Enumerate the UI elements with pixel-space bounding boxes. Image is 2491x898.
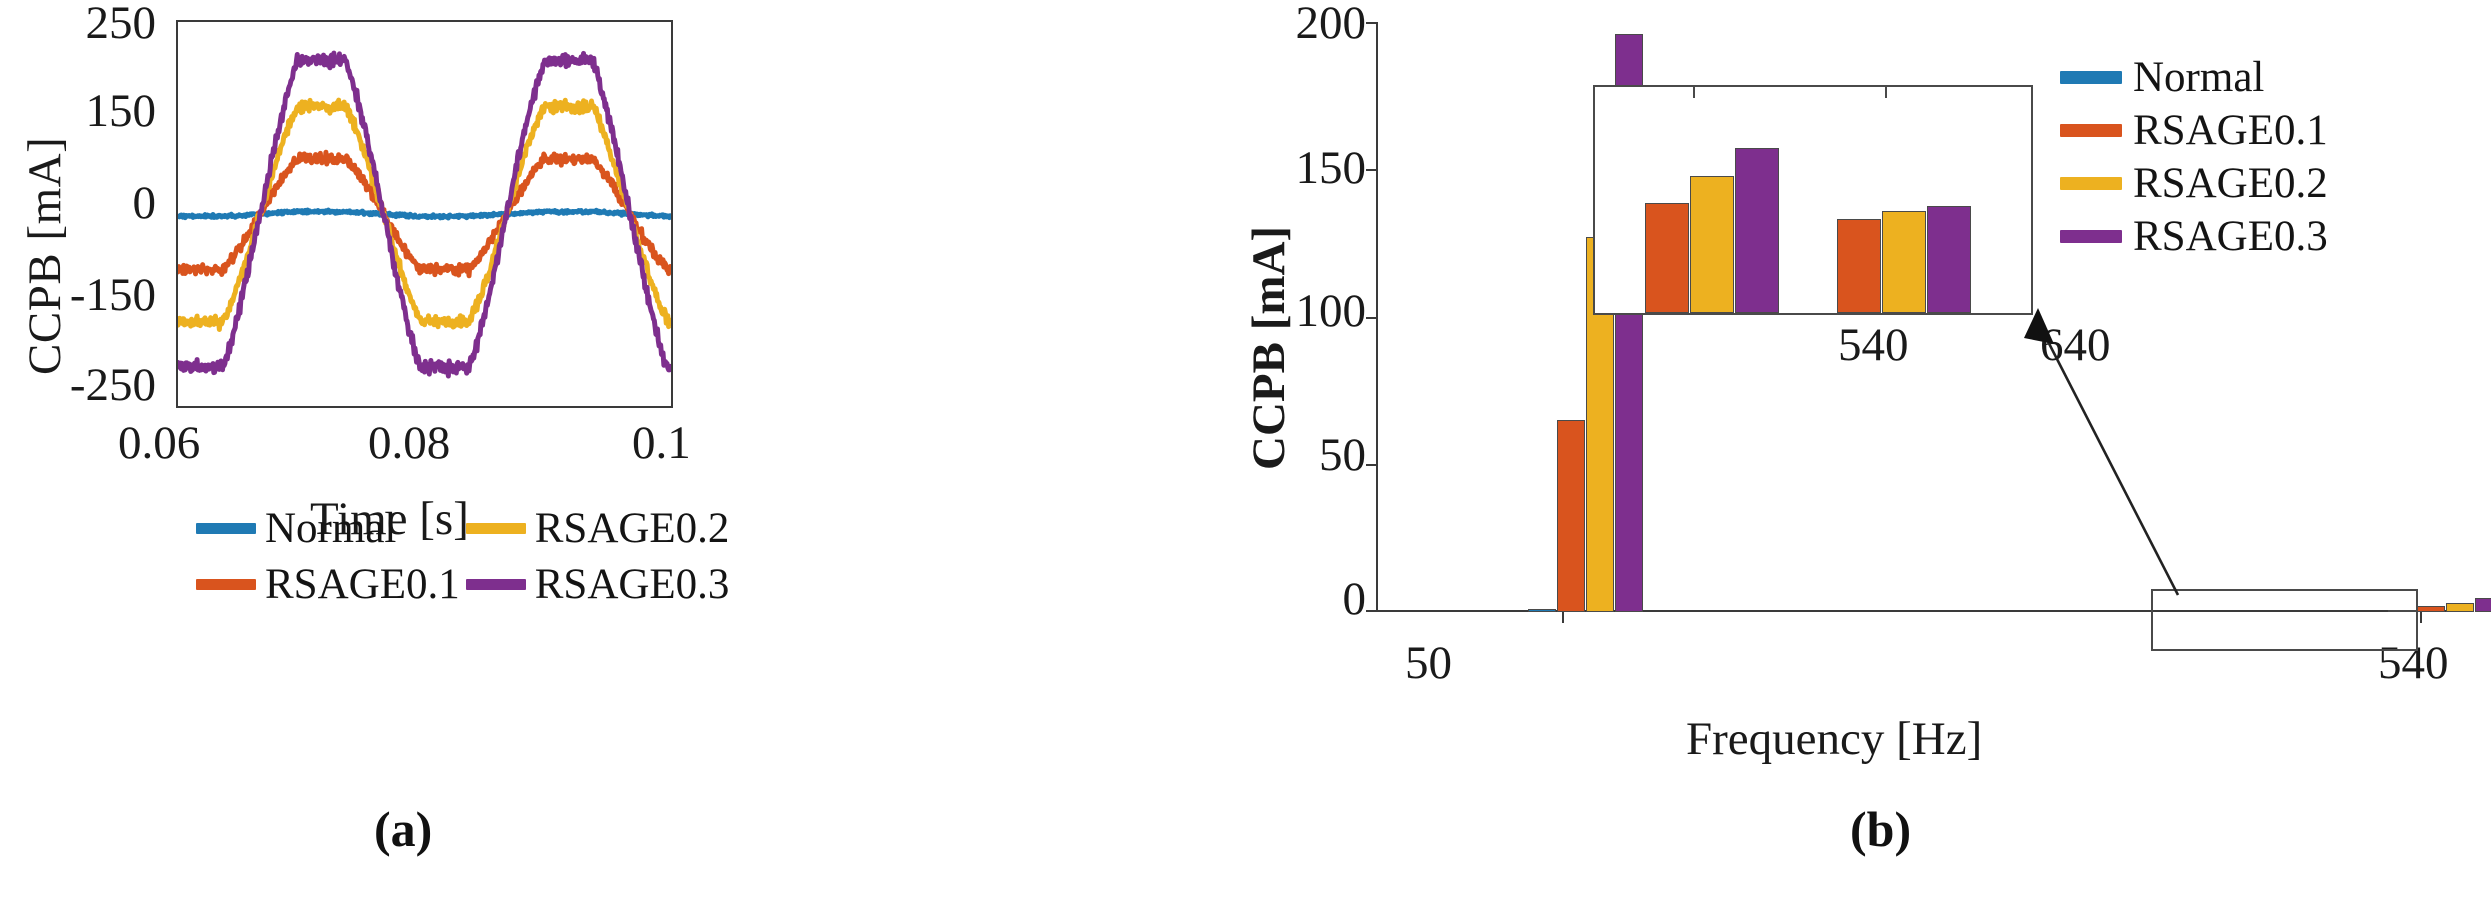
panel-b-inset-bar-rsage02-640hz: [1882, 211, 1926, 313]
panel-a-legend-item-rsage02: RSAGE0.2: [466, 507, 730, 550]
panel-b-inset-plot: [1593, 85, 2033, 315]
panel-b-inset-tickmark-640: [1885, 87, 1887, 98]
panel-a-ylabel: CCPB [mA]: [18, 137, 72, 375]
legend-swatch-rsage03-icon: [2060, 230, 2122, 243]
panel-b-bar-normal-50hz: [1528, 609, 1556, 612]
panel-b-inset-tickmark-540: [1693, 87, 1695, 98]
panel-b-legend-item-rsage02: RSAGE0.2: [2060, 161, 2390, 206]
panel-b-inset-bar-rsage01-640hz: [1837, 219, 1881, 313]
legend-swatch-rsage02-icon: [466, 523, 526, 534]
panel-a-legend-label-normal: Normal: [265, 507, 396, 550]
panel-b-highlight-rect: [2151, 589, 2418, 651]
panel-b-ytick-0: 0: [1226, 576, 1366, 623]
panel-b-ytickmark-50: [1366, 464, 1378, 466]
panel-b-inset-bars-container: [1595, 87, 2031, 313]
panel-b-legend-item-normal: Normal: [2060, 55, 2390, 100]
panel-b-caption: (b): [1850, 800, 1911, 858]
panel-b-xtick-50: 50: [1405, 640, 1452, 687]
panel-b-xtickmark-540: [2420, 612, 2422, 623]
panel-b-bar-rsage02-540hz: [2446, 603, 2474, 612]
panel-b-legend-label-rsage02: RSAGE0.2: [2133, 162, 2328, 205]
panel-b-ytickmark-0: [1366, 610, 1378, 612]
panel-b-inset-bar-rsage03-540hz: [1735, 148, 1779, 313]
panel-a-legend-label-rsage03: RSAGE0.3: [535, 563, 730, 606]
panel-a-caption: (a): [374, 800, 432, 858]
panel-b-ytickmark-100: [1366, 317, 1378, 319]
panel-a-legend-item-rsage03: RSAGE0.3: [466, 563, 730, 606]
panel-b-legend-label-rsage03: RSAGE0.3: [2133, 215, 2328, 258]
panel-b-bar-rsage03-540hz: [2475, 598, 2491, 612]
panel-b-legend-label-normal: Normal: [2133, 56, 2264, 99]
panel-b-ytick-150: 150: [1226, 145, 1366, 192]
panel-a-legend: Normal RSAGE0.2 RSAGE0.1 RSAGE0.3: [196, 500, 666, 612]
panel-b-legend-item-rsage01: RSAGE0.1: [2060, 108, 2390, 153]
legend-swatch-rsage02-icon: [2060, 177, 2122, 190]
panel-b-inset-xtick-640: 640: [2040, 322, 2111, 369]
panel-a-xtick-008: 0.08: [368, 420, 450, 467]
panel-a-plot-area: [176, 20, 673, 408]
panel-a-legend-item-rsage01: RSAGE0.1: [196, 563, 460, 606]
panel-b-inset-xtick-540: 540: [1838, 322, 1909, 369]
panel-a-legend-item-normal: Normal: [196, 507, 460, 550]
panel-b-inset-bar-rsage02-540hz: [1690, 176, 1734, 313]
panel-a-series-normal: [178, 210, 671, 218]
panel-a-waveform-svg: [178, 22, 671, 406]
legend-swatch-normal-icon: [196, 523, 256, 534]
panel-a-legend-label-rsage01: RSAGE0.1: [265, 563, 460, 606]
panel-b-ytickmark-200: [1366, 22, 1378, 24]
panel-b-legend: Normal RSAGE0.1 RSAGE0.2 RSAGE0.3: [2060, 55, 2390, 267]
legend-swatch-normal-icon: [2060, 71, 2122, 84]
legend-swatch-rsage01-icon: [196, 579, 256, 590]
panel-b-bar-rsage01-540hz: [2417, 606, 2445, 612]
panel-a-xtick-01: 0.1: [632, 420, 691, 467]
panel-b-xtickmark-50: [1562, 612, 1564, 623]
panel-b-xlabel: Frequency [Hz]: [1686, 712, 1982, 766]
panel-a-xtick-006: 0.06: [118, 420, 200, 467]
panel-b-bar-rsage01-50hz: [1557, 420, 1585, 612]
panel-b-inset-bar-rsage01-540hz: [1645, 203, 1689, 313]
panel-a-ytick-250: 250: [26, 0, 156, 47]
panel-b-ytick-200: 200: [1226, 0, 1366, 47]
figure-root: 250 150 0 -150 -250 CCPB [mA] 0.06 0.08 …: [0, 0, 2491, 898]
legend-swatch-rsage01-icon: [2060, 124, 2122, 137]
panel-b-ytickmark-150: [1366, 169, 1378, 171]
panel-b-legend-item-rsage03: RSAGE0.3: [2060, 214, 2390, 259]
legend-swatch-rsage03-icon: [466, 579, 526, 590]
panel-a-ytick-150: 150: [26, 88, 156, 135]
panel-b-ylabel: CCPB [mA]: [1242, 226, 1296, 470]
panel-a-legend-label-rsage02: RSAGE0.2: [535, 507, 730, 550]
panel-b-legend-label-rsage01: RSAGE0.1: [2133, 109, 2328, 152]
panel-a: 250 150 0 -150 -250 CCPB [mA] 0.06 0.08 …: [0, 0, 1250, 898]
panel-b-inset-bar-rsage03-640hz: [1927, 206, 1971, 313]
